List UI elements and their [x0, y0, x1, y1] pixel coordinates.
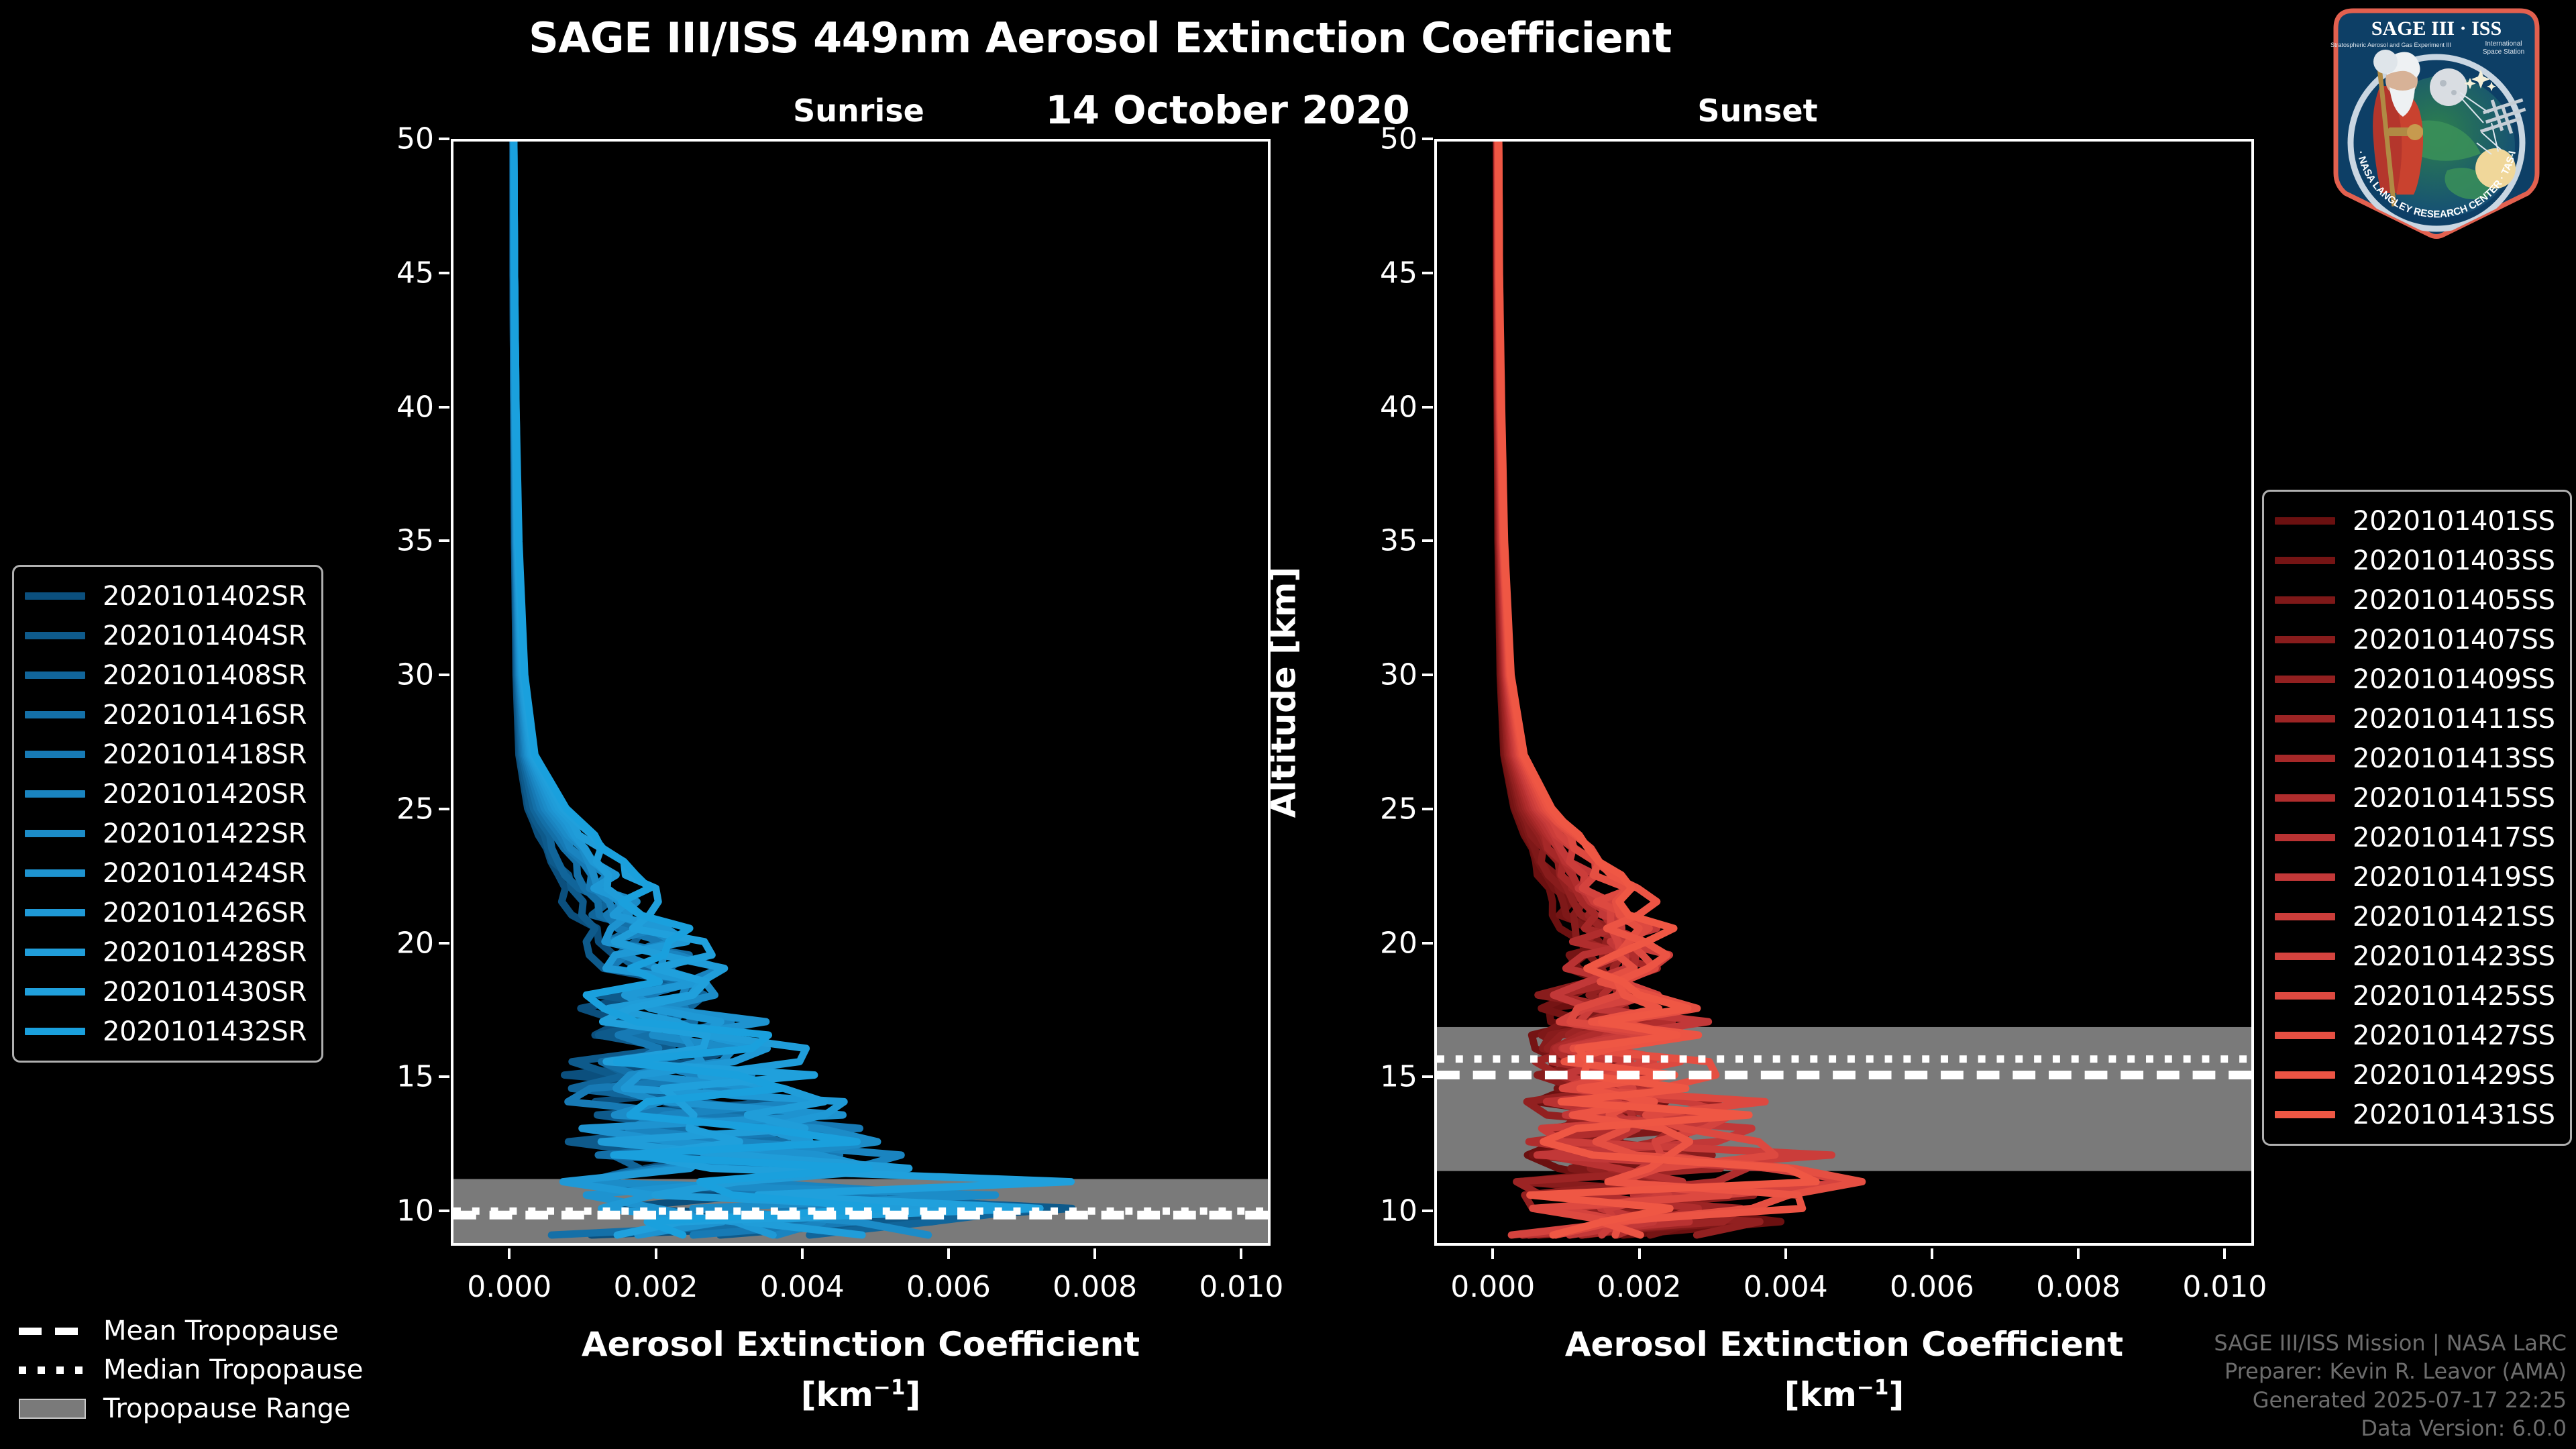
legend-color-swatch — [2275, 1111, 2335, 1118]
legend-color-swatch — [25, 988, 85, 996]
legend-item[interactable]: 2020101404SR — [25, 616, 307, 655]
legend-item-label: 2020101419SS — [2353, 862, 2555, 893]
legend-item-label: 2020101422SR — [103, 818, 307, 849]
x-tick-label: 0.002 — [614, 1270, 698, 1304]
legend-item-label: 2020101405SS — [2353, 585, 2555, 616]
legend-color-swatch — [2275, 517, 2335, 525]
y-tick-mark — [1422, 272, 1433, 274]
legend-item-label: 2020101402SR — [103, 581, 307, 612]
x-tick-mark — [1240, 1248, 1242, 1259]
x-tick-mark — [1638, 1248, 1641, 1259]
x-tick-label: 0.004 — [1743, 1270, 1828, 1304]
y-tick-label: 40 — [1350, 390, 1417, 424]
legend-color-swatch — [2275, 992, 2335, 1000]
legend-item[interactable]: 2020101416SR — [25, 695, 307, 735]
legend-sunset[interactable]: 2020101401SS2020101403SS2020101405SS2020… — [2262, 490, 2572, 1146]
legend-item-label: 2020101432SR — [103, 1016, 307, 1047]
y-tick-label: 25 — [1350, 792, 1417, 826]
legend-item[interactable]: 2020101426SR — [25, 893, 307, 932]
legend-item-label: 2020101409SS — [2353, 664, 2555, 695]
legend-item[interactable]: 2020101419SS — [2275, 857, 2555, 897]
y-axis-title-sunset: Altitude [km] — [1264, 567, 1303, 818]
legend-item[interactable]: 2020101428SR — [25, 932, 307, 972]
y-tick-mark — [439, 1075, 449, 1078]
legend-item-label: 2020101424SR — [103, 858, 307, 889]
y-tick-mark — [439, 138, 449, 140]
patch-subtitle-left: Stratospheric Aerosol and Gas Experiment… — [2330, 42, 2451, 48]
y-tick-mark — [1422, 406, 1433, 409]
footer-line-mission: SAGE III/ISS Mission | NASA LaRC — [2214, 1329, 2567, 1357]
sage-iii-iss-mission-patch-logo: SAGE III · ISS Stratospheric Aerosol and… — [2316, 5, 2557, 241]
x-axis-title-sunrise: Aerosol Extinction Coefficient — [451, 1325, 1271, 1364]
legend-item-label: 2020101421SS — [2353, 902, 2555, 932]
legend-item[interactable]: 2020101407SS — [2275, 620, 2555, 659]
x-tick-label: 0.010 — [1199, 1270, 1283, 1304]
plot-area-sunrise — [451, 139, 1271, 1246]
footer-line-version: Data Version: 6.0.0 — [2214, 1414, 2567, 1442]
x-tick-label: 0.006 — [1890, 1270, 1974, 1304]
legend-color-swatch — [2275, 1071, 2335, 1079]
dashed-line-icon — [19, 1322, 86, 1340]
legend-item-label: 2020101429SS — [2353, 1060, 2555, 1091]
legend-item[interactable]: 2020101425SS — [2275, 976, 2555, 1016]
y-tick-label: 10 — [367, 1194, 434, 1228]
x-tick-mark — [655, 1248, 657, 1259]
legend-label-median-tropopause: Median Tropopause — [103, 1354, 363, 1385]
legend-item[interactable]: 2020101415SS — [2275, 778, 2555, 818]
legend-color-swatch — [25, 869, 85, 877]
x-tick-mark — [1931, 1248, 1933, 1259]
y-tick-label: 25 — [367, 792, 434, 826]
x-axis-unit-sunrise: [km−1] — [451, 1375, 1271, 1414]
y-tick-mark — [1422, 539, 1433, 542]
legend-color-swatch — [2275, 913, 2335, 920]
page-title: SAGE III/ISS 449nm Aerosol Extinction Co… — [0, 13, 2200, 62]
legend-color-swatch — [25, 672, 85, 679]
legend-item[interactable]: 2020101421SS — [2275, 897, 2555, 936]
legend-color-swatch — [25, 1028, 85, 1035]
x-tick-mark — [1093, 1248, 1096, 1259]
legend-color-swatch — [2275, 953, 2335, 960]
legend-color-swatch — [25, 592, 85, 600]
x-tick-mark — [801, 1248, 804, 1259]
x-tick-mark — [508, 1248, 511, 1259]
x-tick-label: 0.000 — [467, 1270, 551, 1304]
patch-moon — [2430, 68, 2467, 106]
legend-item[interactable]: 2020101423SS — [2275, 936, 2555, 976]
y-tick-label: 20 — [367, 926, 434, 960]
y-tick-mark — [1422, 1075, 1433, 1078]
legend-color-swatch — [25, 949, 85, 956]
y-tick-label: 45 — [1350, 256, 1417, 290]
y-tick-mark — [1422, 942, 1433, 945]
panel-subtitle-sunrise: Sunrise — [678, 93, 1040, 129]
legend-color-swatch — [2275, 596, 2335, 604]
legend-item[interactable]: 2020101408SR — [25, 655, 307, 695]
legend-item-label: 2020101425SS — [2353, 981, 2555, 1012]
legend-item[interactable]: 2020101420SR — [25, 774, 307, 814]
legend-item-label: 2020101431SS — [2353, 1099, 2555, 1130]
y-tick-mark — [439, 272, 449, 274]
legend-item-label: 2020101404SR — [103, 621, 307, 651]
y-tick-label: 50 — [367, 122, 434, 156]
legend-item[interactable]: 2020101427SS — [2275, 1016, 2555, 1055]
legend-item-label: 2020101420SR — [103, 779, 307, 810]
legend-color-swatch — [25, 632, 85, 639]
legend-item[interactable]: 2020101417SS — [2275, 818, 2555, 857]
legend-color-swatch — [25, 790, 85, 798]
legend-item-label: 2020101407SS — [2353, 625, 2555, 655]
legend-color-swatch — [2275, 1032, 2335, 1039]
footer-credits: SAGE III/ISS Mission | NASA LaRC Prepare… — [2214, 1329, 2567, 1442]
y-tick-label: 35 — [367, 524, 434, 558]
panel-subtitle-sunset: Sunset — [1576, 93, 1939, 129]
legend-item[interactable]: 2020101409SS — [2275, 659, 2555, 699]
legend-color-swatch — [2275, 636, 2335, 643]
patch-orb — [2373, 50, 2398, 74]
legend-item-label: 2020101416SR — [103, 700, 307, 731]
legend-item-label: 2020101428SR — [103, 937, 307, 968]
legend-item-label: 2020101401SS — [2353, 506, 2555, 537]
x-tick-label: 0.006 — [906, 1270, 991, 1304]
y-tick-mark — [439, 406, 449, 409]
y-tick-label: 30 — [1350, 658, 1417, 692]
y-tick-label: 20 — [1350, 926, 1417, 960]
legend-color-swatch — [2275, 676, 2335, 683]
plot-area-sunset — [1434, 139, 2254, 1246]
legend-item-label: 2020101426SR — [103, 898, 307, 928]
legend-item[interactable]: 2020101413SS — [2275, 739, 2555, 778]
legend-item-label: 2020101418SR — [103, 739, 307, 770]
x-tick-label: 0.002 — [1597, 1270, 1682, 1304]
y-tick-label: 35 — [1350, 524, 1417, 558]
y-tick-label: 30 — [367, 658, 434, 692]
legend-row-mean-tropopause: Mean Tropopause — [19, 1311, 363, 1350]
y-tick-mark — [439, 674, 449, 676]
legend-label-mean-tropopause: Mean Tropopause — [103, 1316, 339, 1346]
y-tick-label: 15 — [367, 1060, 434, 1094]
y-tick-mark — [1422, 1210, 1433, 1212]
legend-sunrise[interactable]: 2020101402SR2020101404SR2020101408SR2020… — [12, 565, 323, 1063]
footer-line-generated: Generated 2025-07-17 22:25 — [2214, 1386, 2567, 1414]
legend-tropopause[interactable]: Mean Tropopause Median Tropopause Tropop… — [19, 1311, 363, 1428]
x-tick-mark — [2223, 1248, 2226, 1259]
x-tick-label: 0.010 — [2182, 1270, 2267, 1304]
legend-color-swatch — [2275, 557, 2335, 564]
legend-row-tropopause-range: Tropopause Range — [19, 1389, 363, 1428]
mission-patch-svg: SAGE III · ISS Stratospheric Aerosol and… — [2316, 5, 2557, 241]
legend-item-label: 2020101430SR — [103, 977, 307, 1008]
footer-line-preparer: Preparer: Kevin R. Leavor (AMA) — [2214, 1357, 2567, 1385]
patch-title: SAGE III · ISS — [2371, 17, 2502, 40]
legend-item[interactable]: 2020101431SS — [2275, 1095, 2555, 1134]
band-swatch-icon — [19, 1400, 86, 1417]
y-tick-mark — [1422, 808, 1433, 810]
x-tick-label: 0.008 — [1053, 1270, 1137, 1304]
y-tick-label: 15 — [1350, 1060, 1417, 1094]
dotted-line-icon — [19, 1361, 86, 1379]
legend-item-label: 2020101423SS — [2353, 941, 2555, 972]
legend-color-swatch — [2275, 794, 2335, 802]
legend-color-swatch — [25, 711, 85, 718]
y-tick-label: 10 — [1350, 1194, 1417, 1228]
legend-row-median-tropopause: Median Tropopause — [19, 1350, 363, 1389]
legend-item[interactable]: 2020101401SS — [2275, 501, 2555, 541]
y-tick-mark — [1422, 674, 1433, 676]
x-tick-label: 0.004 — [760, 1270, 845, 1304]
x-tick-label: 0.000 — [1450, 1270, 1535, 1304]
legend-label-tropopause-range: Tropopause Range — [103, 1393, 351, 1424]
y-tick-label: 45 — [367, 256, 434, 290]
y-tick-mark — [1422, 138, 1433, 140]
legend-color-swatch — [25, 751, 85, 758]
patch-subtitle-right-1: International — [2485, 40, 2522, 48]
x-tick-mark — [947, 1248, 950, 1259]
legend-color-swatch — [2275, 715, 2335, 722]
legend-item-label: 2020101403SS — [2353, 545, 2555, 576]
y-tick-mark — [439, 1210, 449, 1212]
legend-item-label: 2020101413SS — [2353, 743, 2555, 774]
legend-item[interactable]: 2020101402SR — [25, 576, 307, 616]
legend-color-swatch — [2275, 873, 2335, 881]
legend-item[interactable]: 2020101432SR — [25, 1012, 307, 1051]
legend-color-swatch — [2275, 755, 2335, 762]
legend-item-label: 2020101415SS — [2353, 783, 2555, 814]
legend-item[interactable]: 2020101430SR — [25, 972, 307, 1012]
x-axis-title-sunset: Aerosol Extinction Coefficient — [1434, 1325, 2254, 1364]
legend-color-swatch — [2275, 834, 2335, 841]
y-tick-mark — [439, 539, 449, 542]
x-tick-mark — [2077, 1248, 2080, 1259]
legend-item[interactable]: 2020101429SS — [2275, 1055, 2555, 1095]
legend-item-label: 2020101427SS — [2353, 1020, 2555, 1051]
legend-color-swatch — [25, 909, 85, 916]
x-tick-mark — [1491, 1248, 1494, 1259]
legend-item[interactable]: 2020101418SR — [25, 735, 307, 774]
legend-item-label: 2020101417SS — [2353, 822, 2555, 853]
y-tick-mark — [439, 808, 449, 810]
legend-item[interactable]: 2020101411SS — [2275, 699, 2555, 739]
y-tick-mark — [439, 942, 449, 945]
patch-subtitle-right-2: Space Station — [2483, 48, 2524, 56]
x-tick-label: 0.008 — [2036, 1270, 2121, 1304]
legend-item-label: 2020101408SR — [103, 660, 307, 691]
legend-color-swatch — [25, 830, 85, 837]
legend-item[interactable]: 2020101403SS — [2275, 541, 2555, 580]
y-tick-label: 50 — [1350, 122, 1417, 156]
x-tick-mark — [1784, 1248, 1787, 1259]
sunrise-plot-svg — [453, 142, 1268, 1243]
legend-item[interactable]: 2020101422SR — [25, 814, 307, 853]
legend-item[interactable]: 2020101405SS — [2275, 580, 2555, 620]
y-tick-label: 40 — [367, 390, 434, 424]
x-axis-unit-sunset: [km−1] — [1434, 1375, 2254, 1414]
legend-item[interactable]: 2020101424SR — [25, 853, 307, 893]
legend-item-label: 2020101411SS — [2353, 704, 2555, 735]
sunset-plot-svg — [1437, 142, 2251, 1243]
